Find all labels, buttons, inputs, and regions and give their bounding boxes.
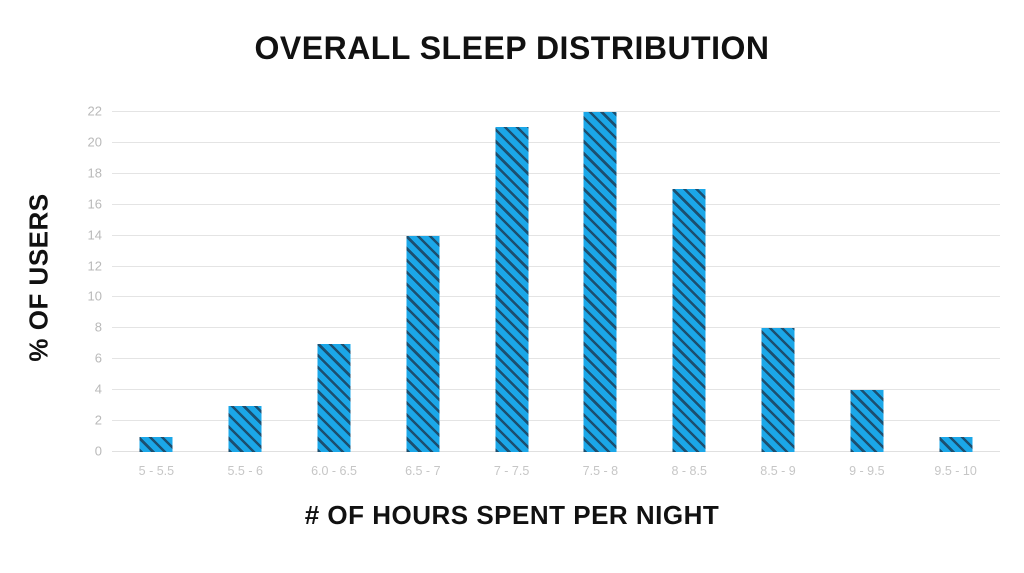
bar[interactable] bbox=[495, 127, 528, 452]
x-axis-tick-label: 7.5 - 8 bbox=[583, 464, 618, 478]
bar-slot bbox=[911, 112, 1000, 452]
x-axis-tick-label: 6.0 - 6.5 bbox=[311, 464, 357, 478]
bar[interactable] bbox=[406, 236, 439, 452]
bar[interactable] bbox=[317, 344, 350, 452]
y-axis-tick-label: 4 bbox=[95, 382, 102, 397]
bar[interactable] bbox=[584, 112, 617, 452]
bar-slot bbox=[290, 112, 379, 452]
x-axis-title: # OF HOURS SPENT PER NIGHT bbox=[0, 500, 1024, 531]
plot-area: 0246810121416182022 bbox=[112, 112, 1000, 452]
bar-slot bbox=[467, 112, 556, 452]
x-axis-tick-label: 8 - 8.5 bbox=[671, 464, 706, 478]
y-axis-tick-label: 18 bbox=[88, 165, 102, 180]
bar[interactable] bbox=[761, 328, 794, 452]
y-axis-tick-label: 14 bbox=[88, 227, 102, 242]
bar[interactable] bbox=[850, 390, 883, 452]
x-axis-tick-label: 5.5 - 6 bbox=[227, 464, 262, 478]
y-axis-title-container: % OF USERS bbox=[14, 100, 64, 455]
bar[interactable] bbox=[229, 406, 262, 452]
y-axis-tick-label: 20 bbox=[88, 134, 102, 149]
bar-slot bbox=[645, 112, 734, 452]
y-axis-tick-label: 10 bbox=[88, 289, 102, 304]
x-axis-tick-label: 9.5 - 10 bbox=[934, 464, 976, 478]
bar-slot bbox=[556, 112, 645, 452]
bar-series bbox=[112, 112, 1000, 452]
bar-slot bbox=[822, 112, 911, 452]
y-axis-tick-label: 22 bbox=[88, 104, 102, 119]
bar-slot bbox=[378, 112, 467, 452]
y-axis-title: % OF USERS bbox=[24, 193, 55, 361]
sleep-distribution-chart: OVERALL SLEEP DISTRIBUTION % OF USERS 02… bbox=[0, 0, 1024, 573]
x-axis-tick-label: 8.5 - 9 bbox=[760, 464, 795, 478]
y-axis-tick-label: 12 bbox=[88, 258, 102, 273]
bar[interactable] bbox=[140, 437, 173, 452]
y-axis-tick-label: 6 bbox=[95, 351, 102, 366]
x-axis-tick-label: 6.5 - 7 bbox=[405, 464, 440, 478]
x-axis-tick-label: 7 - 7.5 bbox=[494, 464, 529, 478]
y-axis-tick-label: 2 bbox=[95, 413, 102, 428]
y-axis-tick-label: 8 bbox=[95, 320, 102, 335]
bar-slot bbox=[734, 112, 823, 452]
chart-title: OVERALL SLEEP DISTRIBUTION bbox=[0, 30, 1024, 67]
bar-slot bbox=[112, 112, 201, 452]
bar[interactable] bbox=[939, 437, 972, 452]
x-axis-tick-label: 9 - 9.5 bbox=[849, 464, 884, 478]
bar[interactable] bbox=[673, 189, 706, 452]
bar-slot bbox=[201, 112, 290, 452]
x-axis-tick-label: 5 - 5.5 bbox=[139, 464, 174, 478]
y-axis-tick-label: 0 bbox=[95, 444, 102, 459]
x-axis-tick-labels: 5 - 5.55.5 - 66.0 - 6.56.5 - 77 - 7.57.5… bbox=[112, 464, 1000, 488]
y-axis-tick-label: 16 bbox=[88, 196, 102, 211]
